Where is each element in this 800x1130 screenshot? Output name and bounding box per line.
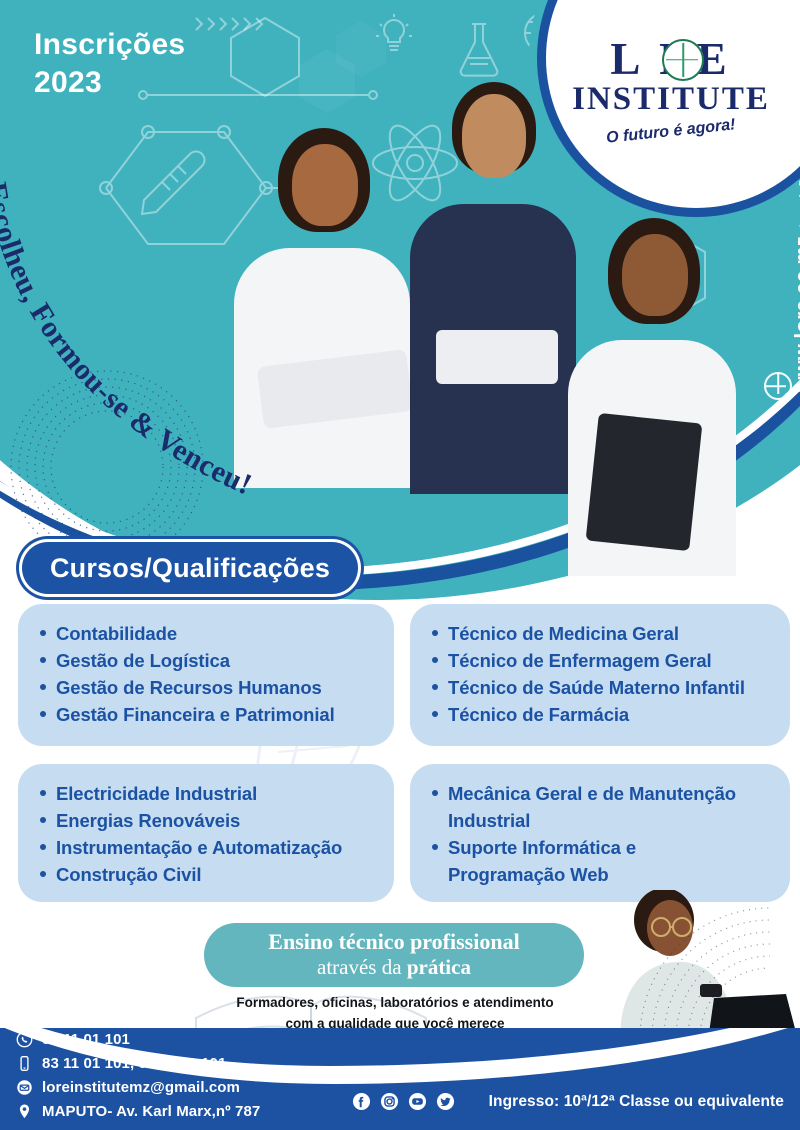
list-item[interactable]: Mecânica Geral e de Manutenção Industria…: [432, 780, 770, 834]
location-pin-icon: [16, 1103, 33, 1120]
contact-text: MAPUTO- Av. Karl Marx,nº 787: [42, 1104, 260, 1119]
page-title: Inscrições 2023: [34, 26, 185, 102]
list-item[interactable]: Técnico de Enfermagem Geral: [432, 647, 770, 674]
practice-banner: Ensino técnico profissional através da p…: [204, 923, 584, 987]
contact-text: 83 11 01 101, 86 11 01 101: [42, 1056, 226, 1071]
list-item[interactable]: Construção Civil: [40, 861, 374, 888]
logo-globe-icon: [662, 39, 704, 81]
headline-line-1: Inscrições: [34, 26, 185, 64]
student-center-face: [462, 94, 526, 178]
list-item[interactable]: Gestão de Logística: [40, 647, 374, 674]
contact-text: loreinstitutemz@gmail.com: [42, 1080, 240, 1095]
course-box-technology: Mecânica Geral e de Manutenção Industria…: [410, 764, 790, 902]
contact-text: 87 11 01 101: [42, 1032, 130, 1047]
contact-row-whatsapp[interactable]: 87 11 01 101: [16, 1031, 416, 1048]
list-item[interactable]: Electricidade Industrial: [40, 780, 374, 807]
list-item[interactable]: Suporte Informática e Programação Web: [432, 834, 718, 888]
folder-right: [586, 413, 703, 551]
student-right-face: [622, 234, 688, 316]
course-list: Electricidade Industrial Energias Renová…: [40, 780, 374, 888]
youtube-icon[interactable]: [408, 1092, 427, 1111]
list-item[interactable]: Instrumentação e Automatização: [40, 834, 374, 861]
website-url[interactable]: www.lore.ac.mz: [792, 236, 800, 392]
practice-banner-line-1: Ensino técnico profissional: [268, 930, 519, 954]
course-box-management: Contabilidade Gestão de Logística Gestão…: [18, 604, 394, 746]
list-item[interactable]: Contabilidade: [40, 620, 374, 647]
facebook-icon[interactable]: [352, 1092, 371, 1111]
list-item[interactable]: Energias Renováveis: [40, 807, 374, 834]
website-vertical-block: www.lore.ac.mz Inscrições online: [752, 186, 798, 396]
email-icon: [16, 1079, 33, 1096]
notebook-center: [436, 330, 558, 384]
twitter-icon[interactable]: [436, 1092, 455, 1111]
course-list: Mecânica Geral e de Manutenção Industria…: [432, 780, 770, 888]
whatsapp-icon: [16, 1031, 33, 1048]
contact-list: 87 11 01 101 83 11 01 101, 86 11 01 101 …: [16, 1031, 416, 1127]
headline-line-2: 2023: [34, 64, 185, 102]
list-item[interactable]: Técnico de Medicina Geral: [432, 620, 770, 647]
course-list: Contabilidade Gestão de Logística Gestão…: [40, 620, 374, 728]
course-box-engineering: Electricidade Industrial Energias Renová…: [18, 764, 394, 902]
practice-banner-prefix: através da: [317, 955, 407, 979]
website-subtitle: Inscrições online: [796, 123, 800, 227]
section-title: Cursos/Qualificações: [50, 553, 330, 584]
list-item[interactable]: Técnico de Saúde Materno Infantil: [432, 674, 770, 701]
admission-note: Ingresso: 10ª/12ª Classe ou equivalente: [489, 1093, 784, 1111]
brand-slogan: O futuro é agora!: [606, 117, 737, 148]
globe-icon: [764, 372, 792, 400]
course-list: Técnico de Medicina Geral Técnico de Enf…: [432, 620, 770, 728]
social-links: [352, 1092, 455, 1111]
list-item[interactable]: Gestão de Recursos Humanos: [40, 674, 374, 701]
course-box-health: Técnico de Medicina Geral Técnico de Enf…: [410, 604, 790, 746]
brand-name-bottom: INSTITUTE: [572, 82, 770, 117]
poster-root: Inscrições 2023 L RE INSTITUTE O futuro …: [0, 0, 800, 1130]
dotted-fan-decoration: [632, 900, 800, 1040]
subnote-line-1: Formadores, oficinas, laboratórios e ate…: [150, 993, 640, 1014]
brand-name-top: L RE: [610, 37, 731, 82]
practice-banner-line-2: através da prática: [317, 955, 471, 980]
practice-banner-bold: prática: [407, 955, 471, 979]
list-item[interactable]: Técnico de Farmácia: [432, 701, 770, 728]
section-banner: Cursos/Qualificações: [22, 542, 358, 594]
brand-logo: L RE INSTITUTE O futuro é agora!: [556, 14, 786, 164]
phone-icon: [16, 1055, 33, 1072]
contact-row-phone[interactable]: 83 11 01 101, 86 11 01 101: [16, 1055, 416, 1072]
list-item[interactable]: Gestão Financeira e Patrimonial: [40, 701, 374, 728]
instagram-icon[interactable]: [380, 1092, 399, 1111]
